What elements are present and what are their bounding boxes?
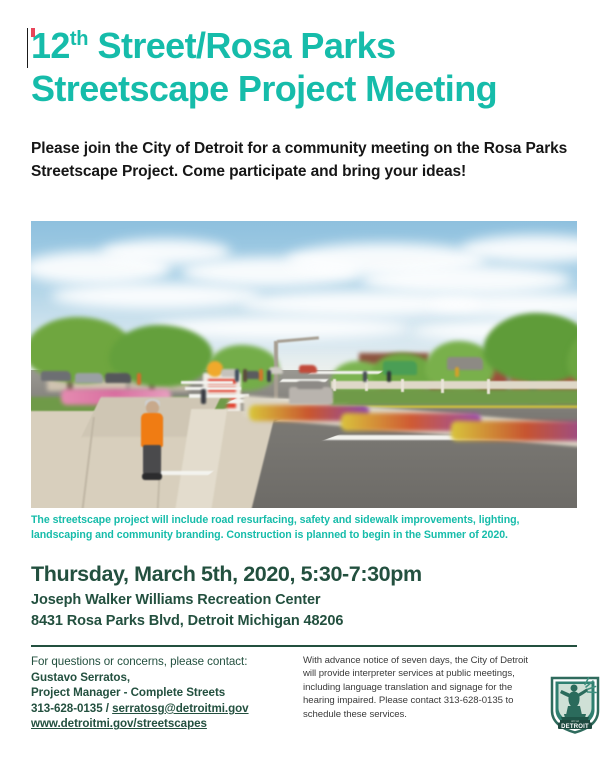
vehicle-car: [447, 357, 483, 370]
vehicle-car-cabin: [297, 381, 323, 389]
rendering-canvas: [31, 221, 577, 508]
contact-separator: /: [103, 702, 113, 715]
title-line-2: Streetscape Project Meeting: [31, 67, 587, 110]
contact-name: Gustavo Serratos,: [31, 670, 281, 686]
text-cursor-artifact: [27, 28, 28, 68]
venue-name: Joseph Walker Williams Recreation Center: [31, 591, 343, 611]
streetscape-rendering: [31, 221, 577, 508]
median-flowers: [451, 421, 577, 441]
title-line-1-ordinal: th: [70, 28, 88, 50]
grass-verge: [331, 389, 577, 405]
crosswalk-stripe: [185, 387, 241, 390]
bollard: [441, 379, 444, 393]
contact-phone: 313-628-0135: [31, 702, 103, 715]
title-line-1-rest: Street/Rosa Parks: [88, 25, 395, 66]
pedestrian: [363, 371, 367, 382]
venue-address: 8431 Rosa Parks Blvd, Detroit Michigan 4…: [31, 612, 343, 632]
title-line-1: 12th Street/Rosa Parks: [31, 24, 587, 67]
vehicle-car: [289, 387, 333, 404]
crosswalk-stripe: [181, 381, 233, 384]
contact-block: For questions or concerns, please contac…: [31, 654, 281, 732]
red-mark-artifact: [31, 28, 35, 37]
vehicle-parked: [41, 371, 71, 381]
pedestrian-foreground-shoes: [142, 473, 162, 480]
vehicle-car: [269, 367, 283, 374]
intro-paragraph: Please join the City of Detroit for a co…: [31, 138, 571, 183]
seal-wordmark-small: CITY OF: [571, 721, 580, 723]
seal-wordmark: DETROIT: [561, 724, 589, 730]
image-caption: The streetscape project will include roa…: [31, 513, 576, 542]
contact-role: Project Manager - Complete Streets: [31, 685, 281, 701]
pedestrian-foreground-legs: [143, 445, 161, 475]
seal-base: [561, 717, 589, 720]
spirit-of-detroit-seal: CITY OF DETROIT: [549, 676, 601, 734]
accessibility-notice: With advance notice of seven days, the C…: [303, 654, 531, 721]
vehicle-parked: [75, 373, 103, 383]
title-line-1-number: 12: [31, 25, 70, 66]
pedestrian-foreground-vest: [141, 413, 163, 447]
event-datetime: Thursday, March 5th, 2020, 5:30-7:30pm: [31, 561, 422, 587]
event-venue: Joseph Walker Williams Recreation Center…: [31, 591, 343, 631]
pedestrian: [259, 369, 263, 381]
cloud: [51, 283, 261, 309]
contact-phone-email-line: 313-628-0135 / serratosg@detroitmi.gov: [31, 701, 281, 717]
page-title: 12th Street/Rosa Parks Streetscape Proje…: [31, 24, 587, 110]
crosswalk-stripe: [189, 394, 249, 398]
vehicle-parked: [105, 373, 131, 383]
pedestrian: [267, 370, 271, 382]
lane-marking: [309, 371, 383, 374]
bollard: [401, 379, 404, 392]
flyer-page: 12th Street/Rosa Parks Streetscape Proje…: [0, 0, 607, 777]
footer-divider: [31, 645, 577, 647]
pedestrian: [455, 367, 459, 377]
bollard: [333, 379, 336, 391]
pedestrian: [243, 369, 247, 382]
bollard: [487, 379, 490, 394]
contact-email-link[interactable]: serratosg@detroitmi.gov: [112, 702, 248, 715]
contact-website-link[interactable]: www.detroitmi.gov/streetscapes: [31, 717, 207, 730]
pedestrian: [201, 389, 206, 404]
pedestrian: [235, 369, 239, 382]
pedestrian: [387, 371, 391, 382]
contact-lead: For questions or concerns, please contac…: [31, 654, 281, 670]
contact-website-line: www.detroitmi.gov/streetscapes: [31, 716, 281, 732]
pedestrian: [137, 373, 141, 385]
vehicle-car: [299, 365, 317, 373]
